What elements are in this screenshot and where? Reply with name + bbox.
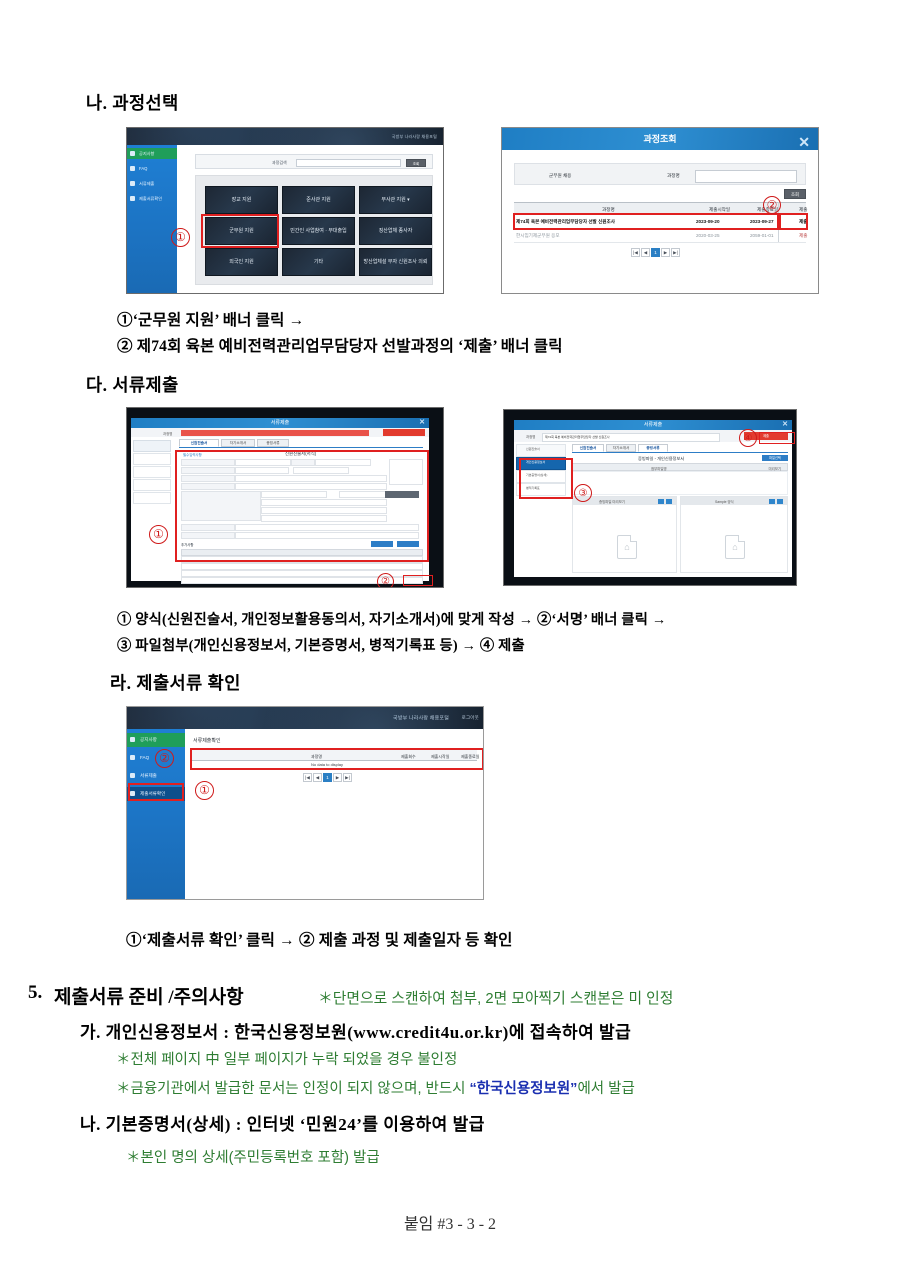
course-value-field	[181, 430, 369, 436]
caption-c-1: ① 양식(신원진술서, 개인정보활용동의서, 자기소개서)에 맞게 작성 → ②…	[117, 608, 666, 629]
doc-item-extra[interactable]	[133, 492, 171, 504]
dialog-body: 군무원 채용 과정명 조회 과정명 제출시작일 제출종료일 제출 제74회 육본…	[502, 150, 818, 293]
page-next[interactable]: ▶	[661, 248, 670, 257]
tab-self-intro[interactable]: 자기소개서	[606, 444, 636, 452]
item-a-bullet-2: ＊금융기관에서 발급한 문서는 인정이 되지 않으며, 반드시 “한국신용정보원…	[116, 1077, 635, 1098]
page-1[interactable]: 1	[651, 248, 660, 257]
marker-2: ②	[763, 196, 781, 214]
portal-content: 서류제출확인 과정명 제출회수 제출시작일 제출종료일 추가제출 No data…	[185, 729, 483, 899]
preview-pane-left: 증빙파일 미리보기 ⌂	[572, 496, 677, 573]
portal-header-bar: 국방부 나라사랑 채용포털	[127, 128, 443, 145]
check-doc-icon	[130, 196, 135, 201]
section-heading-b: 나. 과정선택	[86, 90, 179, 115]
screenshot-file-attach: 서류제출 ✕ 과정명 제74회 육본 예비전력관리업무담당자 선발 신원조사 제…	[503, 409, 797, 586]
tile-defense-background-check[interactable]: 방산업체설 무자 신원조사 의뢰	[359, 248, 432, 276]
section-heading-c: 다. 서류제출	[86, 372, 179, 397]
marker-2: ②	[377, 573, 394, 588]
highlight-doc-list	[519, 458, 573, 499]
tile-noncom-officer[interactable]: 부사관 지원 ▾	[359, 186, 432, 214]
sidebar-item-label: 공지사항	[139, 151, 154, 156]
page-prev[interactable]: ◀	[641, 248, 650, 257]
page-footer: 붙임 #3 - 3 - 2	[0, 1210, 900, 1234]
marker-1: ①	[171, 228, 190, 247]
tab-self-intro[interactable]: 자기소개서	[221, 439, 255, 447]
highlight-sidebar-confirm	[128, 783, 184, 801]
search-input[interactable]	[296, 159, 401, 167]
course-search-bar: 과정검색 조회	[195, 154, 433, 169]
item-b-bullet-1: ＊본인 명의 상세(주민등록번호 포함) 발급	[126, 1146, 380, 1167]
sidebar-item-faq[interactable]: FAQ	[127, 163, 177, 174]
caption-c-2: ③ 파일첨부(개인신용정보서, 기본증명서, 병적기록표 등) → ④ 제출	[117, 634, 525, 655]
doc-icon	[130, 181, 135, 186]
tile-officer[interactable]: 장교 지원	[205, 186, 278, 214]
doc-item-basic-cert[interactable]	[133, 466, 171, 478]
tab-underline	[179, 447, 423, 448]
marker-4: ④	[739, 429, 757, 447]
tab-evidence[interactable]: 증빙서류	[257, 439, 289, 447]
portal-sidebar: 공지사항 FAQ 서류제출 제출서류확인	[127, 145, 177, 293]
filter-box: 군무원 채용 과정명	[514, 163, 806, 185]
marker-3: ③	[574, 484, 592, 502]
dialog-title: 과정조회	[643, 134, 676, 144]
sidebar-item-submit[interactable]: 서류제출	[127, 178, 177, 189]
screenshot-portal-main: 국방부 나라사랑 채용포털 공지사항 FAQ 서류제출 제출서류확인 과정검색	[126, 127, 444, 294]
course-name-input[interactable]	[695, 170, 797, 183]
bullet-post: 에서 발급	[577, 1081, 634, 1097]
caption-d-1: ①‘제출서류 확인’ 클릭 → ② 제출 과정 및 제출일자 등 확인	[126, 928, 513, 950]
doc-icon	[130, 773, 135, 778]
tab-statement[interactable]: 신원진술서	[572, 444, 604, 452]
sidebar-item-confirm[interactable]: 제출서류확인	[127, 193, 177, 204]
tile-etc[interactable]: 기타	[282, 248, 355, 276]
sidebar-item-label: FAQ	[139, 166, 147, 171]
attach-title: 서류제출	[644, 422, 662, 428]
portal-content: 과정검색 조회 장교 지원 준사관 지원 부사관 지원 ▾ 군무원 지원 민간인…	[177, 145, 443, 293]
highlight-course-row	[513, 213, 779, 230]
course-label: 과정명	[163, 431, 172, 436]
attach-main: 신원진술서 자기소개서 증빙서류 증빙파일 - 개인신용정보서 파일선택 첨부파…	[568, 442, 792, 577]
file-select-button[interactable]: 파일선택	[762, 455, 788, 461]
preview-pane-right: Sample 양식 ⌂	[680, 496, 788, 573]
highlight-form-area	[175, 450, 429, 562]
screenshot-course-lookup: 과정조회 ✕ 군무원 채용 과정명 조회 과정명 제출시작일 제출종료일 제출 …	[501, 127, 819, 294]
page-next[interactable]: ▶	[333, 773, 342, 782]
chat-icon	[130, 166, 135, 171]
sidebar-item-notice[interactable]: 공지사항	[127, 148, 177, 159]
document-page: 나. 과정선택 국방부 나라사랑 채용포털 공지사항 FAQ 서류제출 제출서류…	[0, 0, 900, 1272]
sidebar-item-label: 서류제출	[139, 181, 154, 186]
tab-underline	[572, 452, 788, 453]
sidebar-item-submit[interactable]: 서류제출	[127, 769, 185, 783]
upload-file-icon: ⌂	[617, 535, 637, 559]
table-row[interactable]: 한시임기제군무원 응모 2020-03-25 2059-01-01 제출	[514, 229, 806, 243]
cell-start-date: 2020-03-25	[696, 233, 720, 238]
marker-1: ①	[149, 525, 168, 544]
section5-note: ＊단면으로 스캔하여 첨부, 2면 모아찍기 스캔본은 미 인정	[318, 987, 673, 1008]
portal-logo: 국방부 나라사랑 채용포털	[392, 134, 437, 140]
highlight-sign-button	[403, 575, 433, 586]
preview-left-title: 증빙파일 미리보기	[599, 499, 625, 504]
close-icon[interactable]: ✕	[419, 418, 425, 428]
marker-2: ②	[155, 749, 174, 768]
cell-end-date: 2059-01-01	[750, 233, 774, 238]
doc-item-label: 신원진술서	[526, 447, 540, 451]
tile-defense-industry-worker[interactable]: 징산업체 종사자	[359, 217, 432, 245]
panel-title: 증빙파일 - 개인신용정보서	[638, 456, 684, 462]
pagination[interactable]: |◀ ◀ 1 ▶ ▶|	[631, 248, 680, 257]
sidebar-item-label: 제출서류확인	[139, 196, 162, 201]
highlight-confirm-table	[190, 748, 484, 770]
preview-left-next[interactable]	[666, 499, 672, 504]
page-last[interactable]: ▶|	[343, 773, 352, 782]
item-a-label: 가. 개인신용정보서 : 한국신용정보원(www.credit4u.or.kr)…	[80, 1018, 631, 1043]
grid-row[interactable]	[181, 563, 423, 570]
tab-statement[interactable]: 신원진술서	[179, 439, 219, 447]
page-title: 서류제출확인	[193, 737, 221, 744]
caption-b-1: ①‘군무원 지원’ 배너 클릭 →	[117, 308, 304, 330]
item-a-bullet-1: ＊전체 페이지 中 일부 페이지가 누락 되었을 경우 불인정	[116, 1048, 457, 1069]
screenshot-confirm-list: 국방부 나라사랑 채용포털 로그아웃 공지사항 FAQ 서류제출 제출서류확인 …	[126, 706, 484, 900]
logout-link[interactable]: 로그아웃	[462, 715, 479, 721]
cell-submit-button[interactable]: 제출	[799, 233, 807, 239]
highlight-submit-button	[759, 432, 795, 444]
preview-right-next[interactable]	[777, 499, 783, 504]
bullet-pre: ＊금융기관에서 발급한 문서는 인정이 되지 않으며, 반드시	[116, 1081, 470, 1097]
doc-item-military-record[interactable]	[133, 479, 171, 491]
page-first[interactable]: |◀	[303, 773, 312, 782]
highlight-civilian-military-tile	[201, 214, 279, 248]
course-label: 과정명	[526, 434, 535, 439]
caption-b-2: ② 제74회 육본 예비전력관리업무담당자 선발과정의 ‘제출’ 배너 클릭	[117, 334, 563, 356]
portal-logo: 국방부 나라사랑 채용포털	[393, 715, 449, 722]
form-title: 서류제출	[271, 420, 289, 426]
screenshot-form-submit: 서류제출 ✕ 과정명 신원진술서 자기소개서 증빙서류	[126, 407, 444, 588]
course-value: 제74회 육본 예비전력관리업무담당자 선발 신원조사	[545, 435, 610, 439]
filter-label: 군무원 채용	[549, 173, 571, 179]
sidebar-item-label: 서류제출	[140, 773, 157, 778]
pagination[interactable]: |◀ ◀ 1 ▶ ▶|	[303, 773, 352, 782]
section5-title: 제출서류 준비 /주의사항	[54, 982, 244, 1009]
page-first[interactable]: |◀	[631, 248, 640, 257]
upload-file-icon: ⌂	[725, 535, 745, 559]
item-b-label: 나. 기본증명서(상세) : 인터넷 ‘민원24’를 이용하여 발급	[80, 1110, 485, 1135]
highlight-submit-button	[779, 213, 808, 230]
attach-table-header: 첨부파일명 미리보기	[572, 463, 788, 471]
search-label: 과정검색	[272, 160, 287, 166]
course-value-field: 제74회 육본 예비전력관리업무담당자 선발 신원조사	[542, 433, 720, 442]
sidebar-item-label: FAQ	[140, 755, 149, 760]
form-doc-list	[131, 437, 174, 581]
preview-right-prev[interactable]	[769, 499, 775, 504]
chat-icon	[130, 755, 135, 760]
tile-private-participation[interactable]: 민간인 사업참여 · 부대출입	[282, 217, 355, 245]
cell-course-name: 한시임기제군무원 응모	[516, 233, 560, 239]
doc-item-statement[interactable]: 신원진술서	[516, 444, 566, 457]
dialog-title-bar: 과정조회 ✕	[502, 128, 818, 150]
marker-1: ①	[195, 781, 214, 800]
close-icon[interactable]: ✕	[782, 420, 788, 430]
page-1[interactable]: 1	[323, 773, 332, 782]
attach-table-body	[572, 471, 788, 495]
sign-button[interactable]	[383, 429, 425, 436]
tile-foreigner[interactable]: 외국인 지원	[205, 248, 278, 276]
portal-header-bar: 국방부 나라사랑 채용포털 로그아웃	[127, 707, 483, 729]
search-button[interactable]: 조회	[406, 159, 426, 167]
preview-right-title: Sample 양식	[715, 499, 734, 504]
bell-icon	[130, 151, 135, 156]
sidebar-item-notice[interactable]: 공지사항	[127, 733, 185, 747]
page-last[interactable]: ▶|	[671, 248, 680, 257]
page-prev[interactable]: ◀	[313, 773, 322, 782]
lookup-search-button[interactable]: 조회	[784, 189, 806, 199]
section5-number: 5.	[28, 982, 42, 1004]
doc-item-statement[interactable]	[133, 440, 171, 452]
preview-left-prev[interactable]	[658, 499, 664, 504]
section-heading-d: 라. 제출서류 확인	[110, 670, 241, 695]
tile-warrant-officer[interactable]: 준사관 지원	[282, 186, 355, 214]
tab-evidence[interactable]: 증빙서류	[638, 444, 668, 452]
bell-icon	[130, 737, 135, 742]
course-name-label: 과정명	[667, 173, 680, 179]
form-title-bar: 서류제출 ✕	[131, 418, 429, 428]
bullet-strong: “한국신용정보원”	[470, 1081, 578, 1097]
sidebar-item-label: 공지사항	[140, 737, 157, 742]
doc-item-credit[interactable]	[133, 453, 171, 465]
